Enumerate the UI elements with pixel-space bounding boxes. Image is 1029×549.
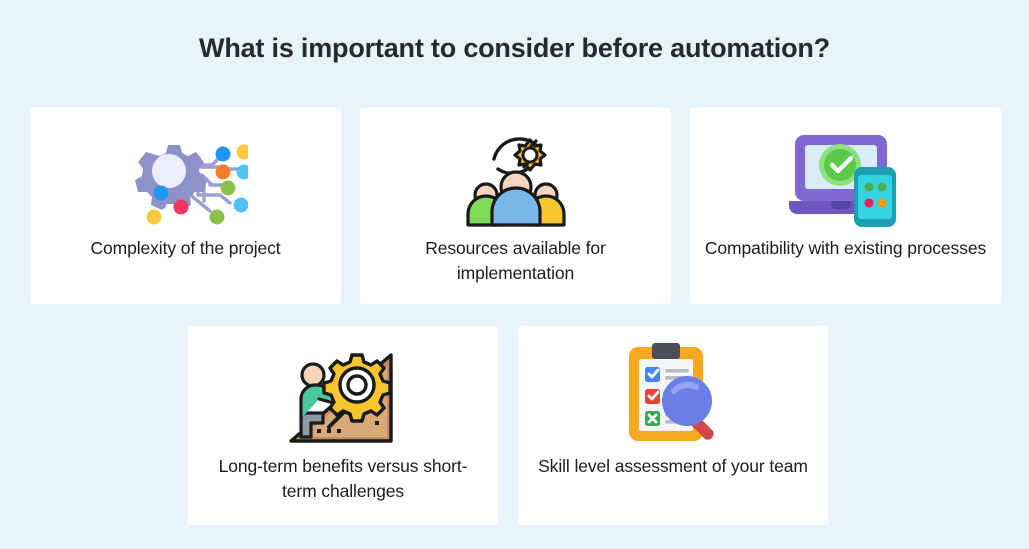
card-label: Long-term benefits versus short-term cha… [188, 454, 498, 504]
card-label: Complexity of the project [76, 236, 294, 261]
card-label: Skill level assessment of your team [524, 454, 822, 479]
person-pushing-gear-uphill-icon [273, 338, 413, 448]
clipboard-checklist-magnifier-icon [603, 338, 743, 448]
card-complexity[interactable]: Complexity of the project [30, 108, 341, 304]
laptop-phone-check-icon [776, 120, 916, 230]
card-label: Compatibility with existing processes [691, 236, 1000, 261]
card-longterm[interactable]: Long-term benefits versus short-term cha… [188, 326, 498, 525]
gear-circuit-network-icon [116, 120, 256, 230]
card-label: Resources available for implementation [360, 236, 671, 286]
card-resources[interactable]: Resources available for implementation [360, 108, 671, 304]
card-skill[interactable]: Skill level assessment of your team [518, 326, 828, 525]
card-compatibility[interactable]: Compatibility with existing processes [690, 108, 1001, 304]
page-title: What is important to consider before aut… [0, 33, 1029, 64]
team-with-gear-icon [446, 120, 586, 230]
